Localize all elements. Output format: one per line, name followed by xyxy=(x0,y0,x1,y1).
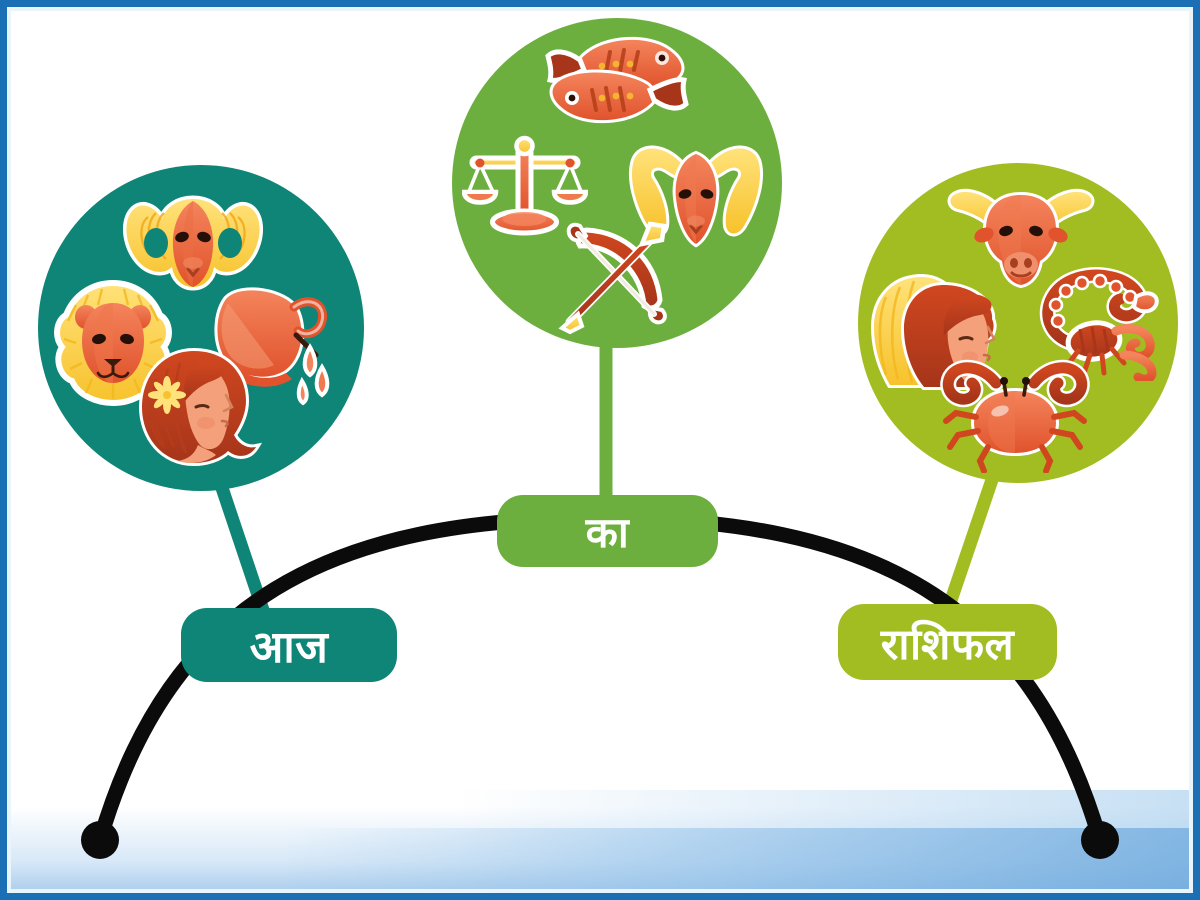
bubble-left[interactable] xyxy=(38,165,364,491)
cancer-crab-icon xyxy=(940,357,1090,473)
label-aaj-text: आज xyxy=(250,615,329,675)
infographic-canvas: आज का राशिफल xyxy=(0,0,1200,900)
label-rashifal[interactable]: राशिफल xyxy=(838,604,1057,680)
arc-endpoint-right-dot xyxy=(1081,821,1119,859)
sagittarius-bow-icon xyxy=(554,214,676,336)
stem-right xyxy=(945,465,997,618)
bubble-middle[interactable] xyxy=(452,18,782,348)
label-ka[interactable]: का xyxy=(497,495,718,567)
label-ka-text: का xyxy=(586,503,630,560)
pisces-fish-icon xyxy=(536,26,698,138)
label-aaj[interactable]: आज xyxy=(181,608,397,682)
virgo-maiden-icon xyxy=(134,343,264,475)
arc-endpoint-left-dot xyxy=(81,821,119,859)
bubble-right[interactable] xyxy=(858,163,1178,483)
label-rashifal-text: राशिफल xyxy=(881,613,1014,672)
